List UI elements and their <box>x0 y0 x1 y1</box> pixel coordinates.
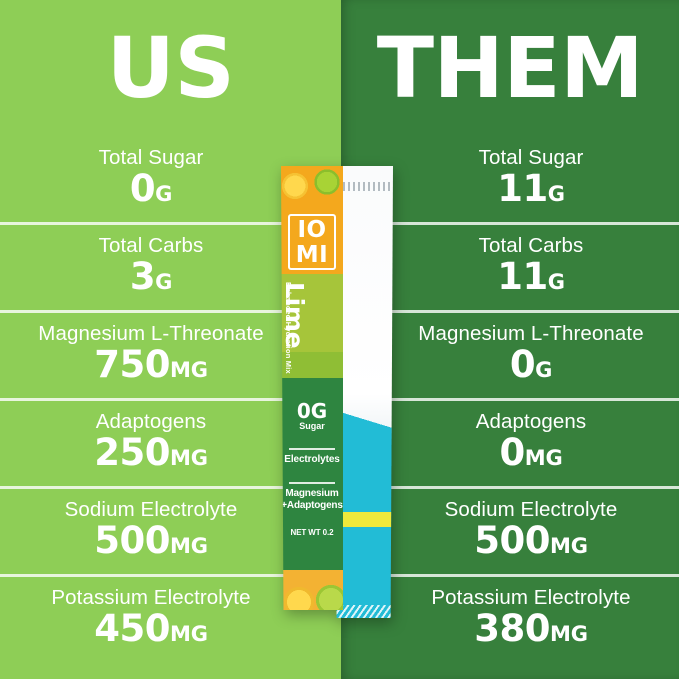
lemon-lime-icon <box>281 166 343 208</box>
us-value-unit: G <box>155 270 172 294</box>
comparison-infographic: US THEM Total Sugar 0G Total Sugar 11G <box>0 0 679 679</box>
us-value: 500MG <box>94 522 207 561</box>
us-cell: Sodium Electrolyte 500MG <box>6 486 296 574</box>
us-value-number: 250 <box>94 431 170 474</box>
them-value-number: 0 <box>500 431 525 474</box>
row-label: Potassium Electrolyte <box>431 587 630 610</box>
them-value-unit: G <box>548 182 565 206</box>
row-label: Total Carbs <box>99 235 204 258</box>
them-value-unit: MG <box>525 446 563 470</box>
them-value-number: 500 <box>474 519 550 562</box>
row-label: Total Sugar <box>99 147 204 170</box>
us-value-unit: MG <box>170 534 208 558</box>
us-cell: Potassium Electrolyte 450MG <box>6 574 296 662</box>
packet-sugar-amount: 0G <box>281 402 343 421</box>
us-value: 3G <box>130 258 172 297</box>
row-label: Adaptogens <box>476 411 586 434</box>
them-value-unit: MG <box>550 622 588 646</box>
us-value-unit: MG <box>170 622 208 646</box>
packet-sugar-claim: 0G Sugar <box>281 402 343 432</box>
packet-adaptogens-line: +Adaptogens <box>281 500 343 512</box>
row-label: Sodium Electrolyte <box>65 499 238 522</box>
us-value: 750MG <box>94 346 207 385</box>
them-cell: Magnesium L-Threonate 0G <box>392 310 670 398</box>
us-value-unit: G <box>155 182 172 206</box>
us-heading: US <box>0 26 341 110</box>
us-value-number: 500 <box>94 519 170 562</box>
packet-rule <box>289 448 335 450</box>
row-label: Total Carbs <box>479 235 584 258</box>
them-value: 11G <box>497 258 565 297</box>
us-value-number: 3 <box>130 255 155 298</box>
them-value: 11G <box>497 170 565 209</box>
packet-bottom-seal <box>335 605 391 618</box>
packet-magnesium-line: Magnesium <box>281 488 343 500</box>
us-value: 450MG <box>94 610 207 649</box>
them-value-number: 11 <box>497 167 548 210</box>
them-cell: Adaptogens 0MG <box>392 398 670 486</box>
us-product-packet: IO MI Enhanced Hydration Mix Lime 0G Sug… <box>281 166 343 610</box>
packet-rule <box>289 482 335 484</box>
us-cell: Total Sugar 0G <box>6 134 296 222</box>
us-value-number: 750 <box>94 343 170 386</box>
them-value: 0MG <box>500 434 563 473</box>
them-cell: Potassium Electrolyte 380MG <box>392 574 670 662</box>
them-value-number: 11 <box>497 255 548 298</box>
them-value-number: 380 <box>474 607 550 650</box>
packet-net-weight: NET WT 0.2 <box>281 528 343 537</box>
packet-flavor: Lime <box>281 282 309 348</box>
row-label: Magnesium L-Threonate <box>418 323 643 346</box>
row-label: Sodium Electrolyte <box>445 499 618 522</box>
row-label: Magnesium L-Threonate <box>38 323 263 346</box>
packet-magnesium-claim: Magnesium +Adaptogens <box>281 488 343 512</box>
row-label: Total Sugar <box>479 147 584 170</box>
us-cell: Total Carbs 3G <box>6 222 296 310</box>
them-cell: Sodium Electrolyte 500MG <box>392 486 670 574</box>
them-value-number: 0 <box>510 343 535 386</box>
them-value-unit: MG <box>550 534 588 558</box>
them-value: 0G <box>510 346 552 385</box>
them-cell: Total Sugar 11G <box>392 134 670 222</box>
lemon-lime-bottom-icon <box>283 572 343 610</box>
us-value-number: 450 <box>94 607 170 650</box>
us-cell: Adaptogens 250MG <box>6 398 296 486</box>
row-label: Adaptogens <box>96 411 206 434</box>
them-value-unit: G <box>548 270 565 294</box>
packet-sugar-label: Sugar <box>281 421 343 432</box>
brand-logo: IO MI <box>288 214 336 270</box>
them-value: 500MG <box>474 522 587 561</box>
them-value: 380MG <box>474 610 587 649</box>
us-value: 250MG <box>94 434 207 473</box>
them-value-unit: G <box>535 358 552 382</box>
them-cell: Total Carbs 11G <box>392 222 670 310</box>
us-value-number: 0 <box>130 167 155 210</box>
brand-logo-line-1: IO <box>290 218 334 243</box>
row-label: Potassium Electrolyte <box>51 587 250 610</box>
product-packets: IO MI Enhanced Hydration Mix Lime 0G Sug… <box>281 166 399 618</box>
us-cell: Magnesium L-Threonate 750MG <box>6 310 296 398</box>
brand-logo-line-2: MI <box>290 243 334 268</box>
packet-electrolytes-claim: Electrolytes <box>281 454 343 465</box>
us-value-unit: MG <box>170 446 208 470</box>
us-value: 0G <box>130 170 172 209</box>
us-value-unit: MG <box>170 358 208 382</box>
them-heading: THEM <box>341 26 679 110</box>
